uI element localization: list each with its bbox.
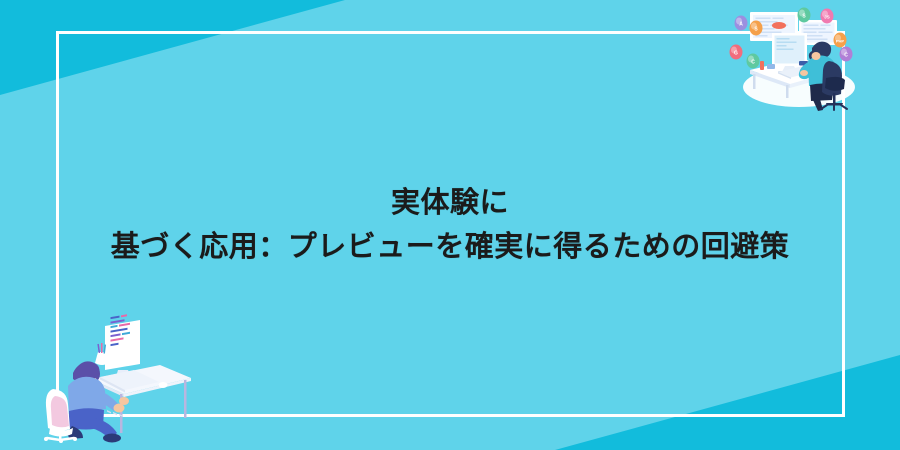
- title-container: 実体験に 基づく応用：プレビューを確実に得るための回避策: [0, 0, 900, 450]
- title-line-2: 基づく応用：プレビューを確実に得るための回避策: [111, 225, 790, 269]
- title-banner: A S G C: [0, 0, 900, 450]
- title-line-1: 実体験に: [111, 181, 790, 225]
- page-title: 実体験に 基づく応用：プレビューを確実に得るための回避策: [111, 181, 790, 269]
